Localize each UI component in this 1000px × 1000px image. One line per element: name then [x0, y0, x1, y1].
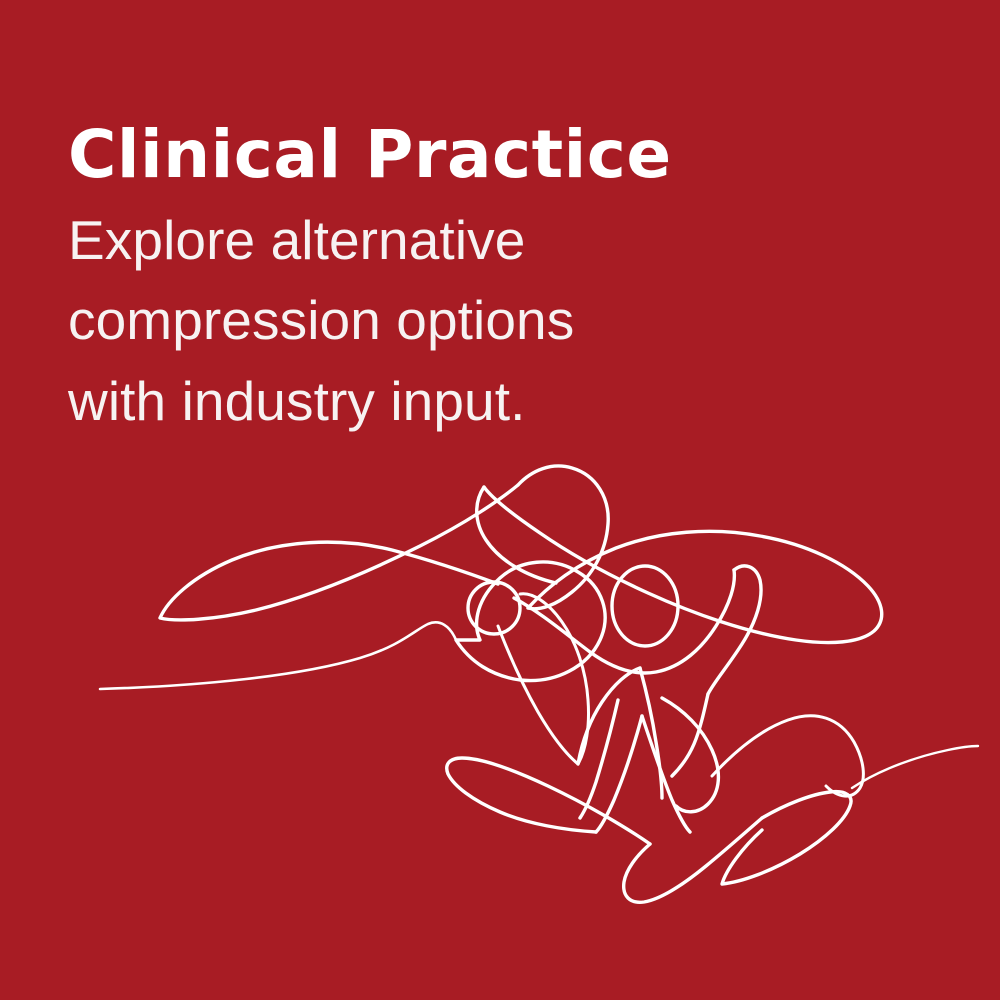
line-left-dangling-leaf [498, 594, 589, 764]
line-left-tail [100, 622, 456, 689]
page-title: Clinical Practice [68, 120, 672, 189]
body-line-2: compression options [68, 280, 708, 360]
line-arms-arc [514, 570, 734, 673]
line-top-loop [518, 466, 608, 609]
body-text: Explore alternative compression options … [68, 200, 708, 441]
line-shoulder-loop [468, 582, 520, 634]
line-leg-right [640, 668, 662, 798]
line-shin-left [596, 716, 642, 832]
line-torso-right [672, 694, 708, 776]
line-torso-left [578, 668, 640, 764]
social-card: Clinical Practice Explore alternative co… [0, 0, 1000, 1000]
line-lower-left-leaf [447, 758, 650, 844]
body-line-3: with industry input. [68, 361, 708, 441]
line-right-arm [708, 566, 761, 694]
line-upper-right-wing [484, 487, 882, 643]
line-left-small-leaf [456, 562, 605, 681]
line-head [612, 566, 678, 646]
line-right-thigh-loop [662, 698, 718, 812]
line-shin-right [642, 716, 690, 832]
line-shoulder-approach [477, 487, 556, 583]
line-upper-left-wing [160, 485, 518, 620]
footer: Actions for Engagement lymphoedemaedu.co… [0, 862, 1000, 972]
body-line-1: Explore alternative [68, 200, 708, 280]
line-right-hump [712, 716, 863, 796]
line-right-tail [852, 746, 978, 788]
line-leg-left [580, 700, 618, 818]
